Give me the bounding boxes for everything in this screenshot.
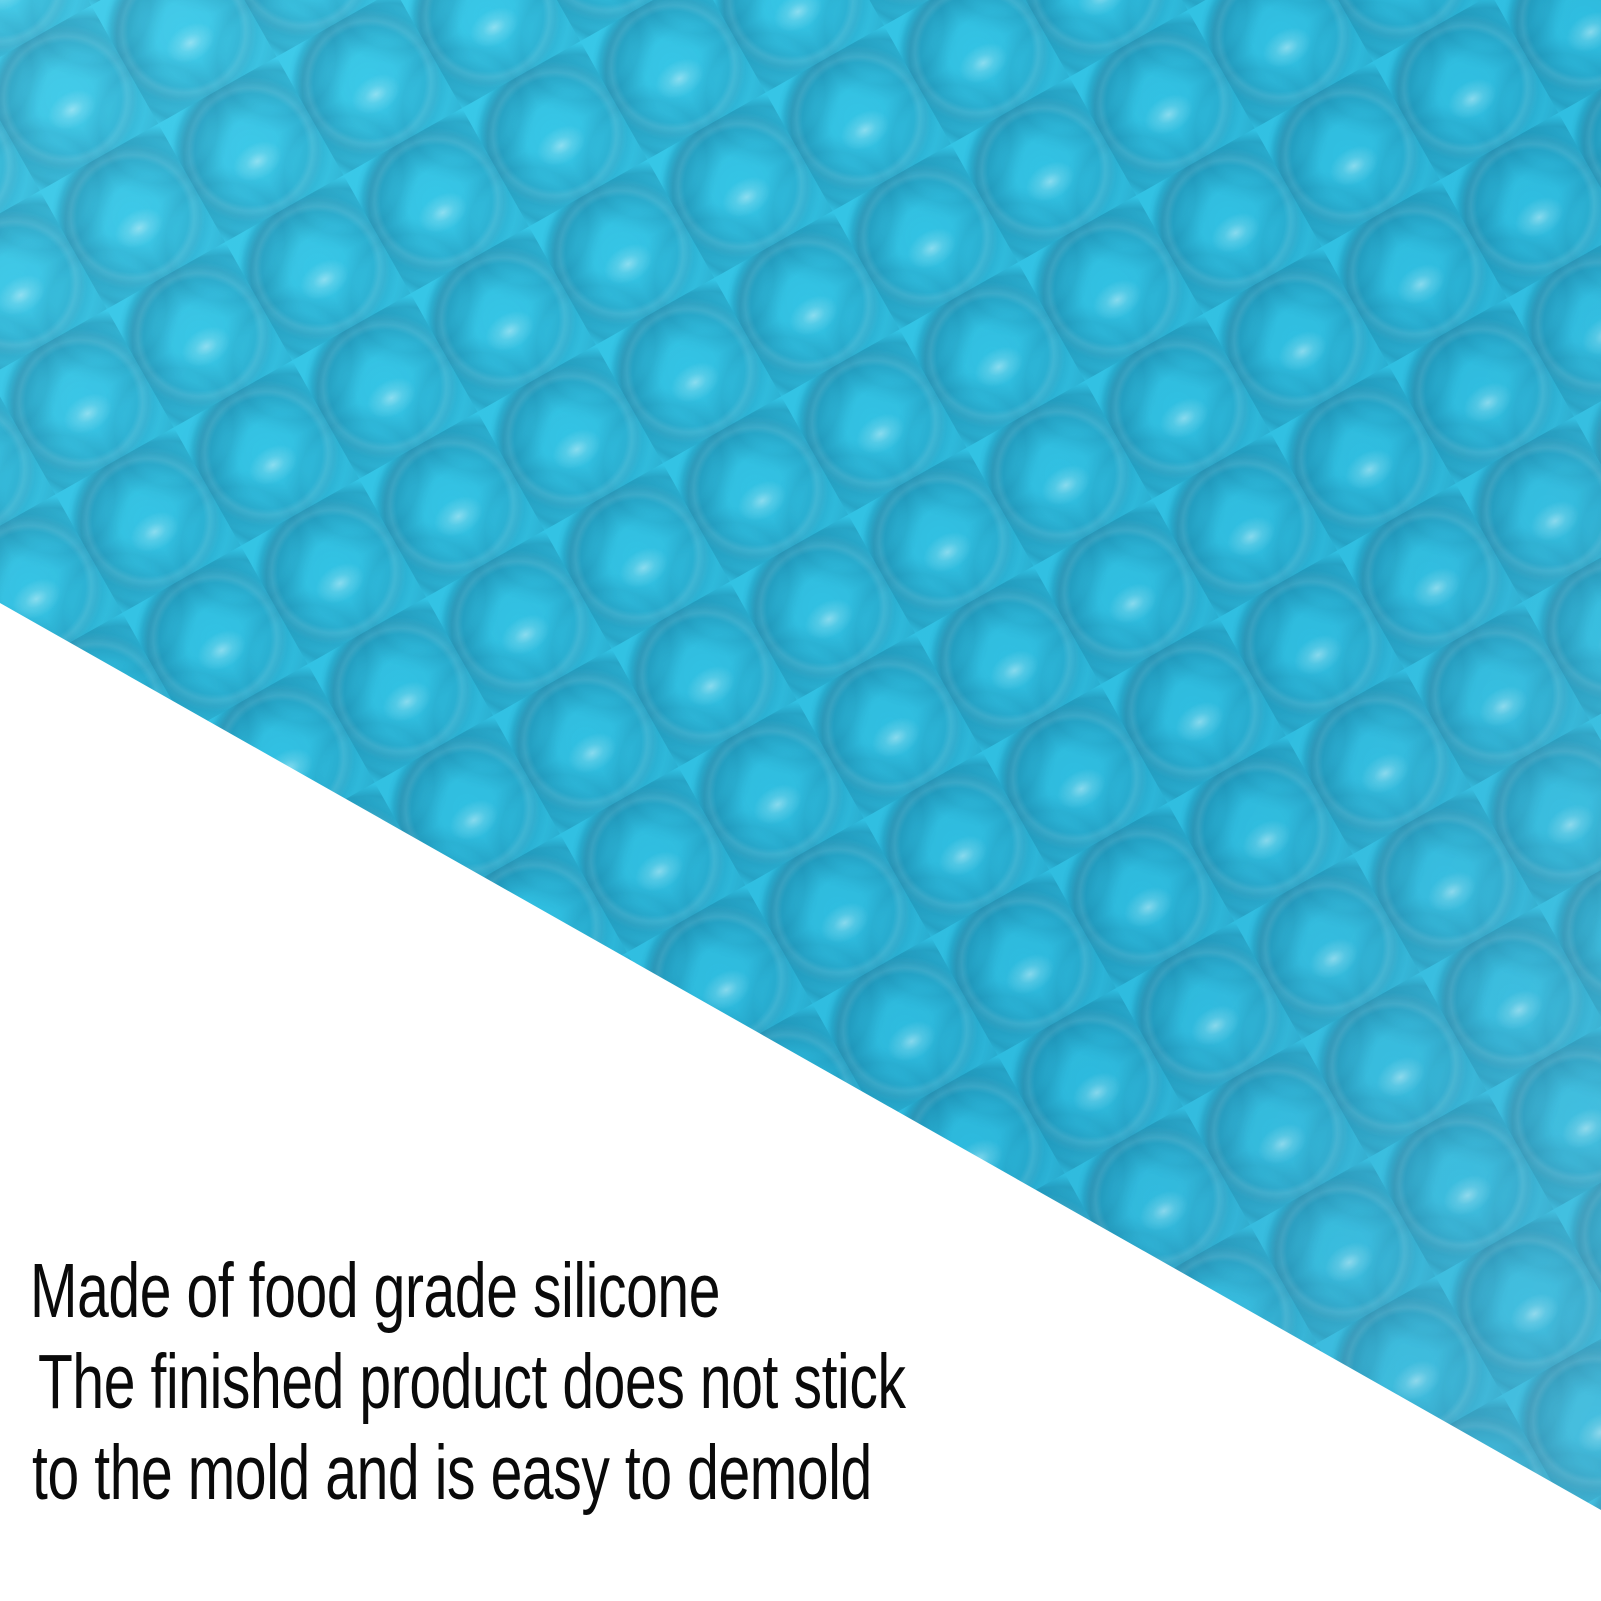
caption-line-3: to the mold and is easy to demold (32, 1428, 919, 1519)
caption-line-2: The finished product does not stick (38, 1337, 920, 1428)
caption-block: Made of food grade silicone The finished… (30, 1246, 1230, 1519)
caption-line-1: Made of food grade silicone (30, 1246, 918, 1337)
product-image-canvas: Made of food grade silicone The finished… (0, 0, 1601, 1601)
